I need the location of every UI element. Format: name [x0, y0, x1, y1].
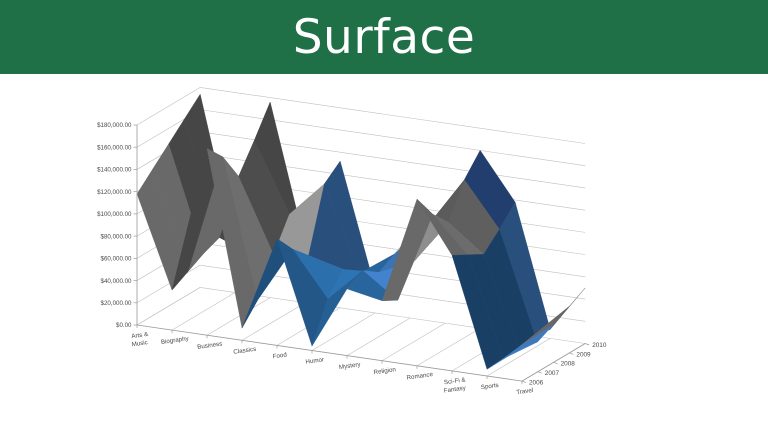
category-axis-label: Romance — [406, 371, 434, 382]
category-axis-label: Business — [197, 341, 223, 351]
y-axis-tick-label: $120,000.00 — [97, 189, 132, 196]
y-axis-tick-label: $60,000.00 — [101, 256, 133, 263]
series-axis-label: 2008 — [561, 361, 576, 368]
y-axis-tick-label: $100,000.00 — [97, 211, 132, 218]
slide: Surface $0.00$20,000.00$40,000.00$60,000… — [0, 0, 768, 432]
series-axis-label: 2009 — [576, 351, 591, 358]
category-axis-label: Religion — [373, 366, 397, 376]
category-axis-label: Humor — [305, 356, 324, 366]
category-axis-label: Music — [131, 339, 148, 348]
category-axis-label: Biography — [161, 335, 190, 346]
y-axis-tick-labels: $0.00$20,000.00$40,000.00$60,000.00$80,0… — [97, 122, 132, 329]
surface-chart[interactable]: $0.00$20,000.00$40,000.00$60,000.00$80,0… — [0, 74, 768, 432]
y-axis-tick-label: $180,000.00 — [97, 122, 132, 129]
category-axis-label: Classics — [233, 346, 257, 356]
category-axis-label: Mystery — [339, 361, 362, 371]
surface-chart-svg: $0.00$20,000.00$40,000.00$60,000.00$80,0… — [0, 74, 768, 432]
y-axis-tick-label: $160,000.00 — [97, 144, 132, 151]
y-axis-tick-label: $20,000.00 — [101, 300, 133, 307]
y-axis-tick-label: $0.00 — [116, 322, 132, 329]
y-axis-tick-label: $80,000.00 — [101, 233, 133, 240]
series-axis-labels: 20062007200820092010 — [529, 342, 607, 387]
category-axis-label: Travel — [516, 387, 534, 396]
series-axis-label: 2007 — [545, 370, 560, 377]
surface-mesh — [137, 94, 585, 381]
y-axis-tick-label: $40,000.00 — [101, 278, 133, 285]
page-title: Surface — [0, 0, 768, 74]
y-axis-tick-label: $140,000.00 — [97, 167, 132, 174]
category-axis-label: Food — [272, 351, 287, 360]
category-axis-label: Sports — [480, 382, 499, 391]
series-axis-label: 2006 — [529, 380, 544, 387]
series-axis-label: 2010 — [592, 342, 607, 349]
